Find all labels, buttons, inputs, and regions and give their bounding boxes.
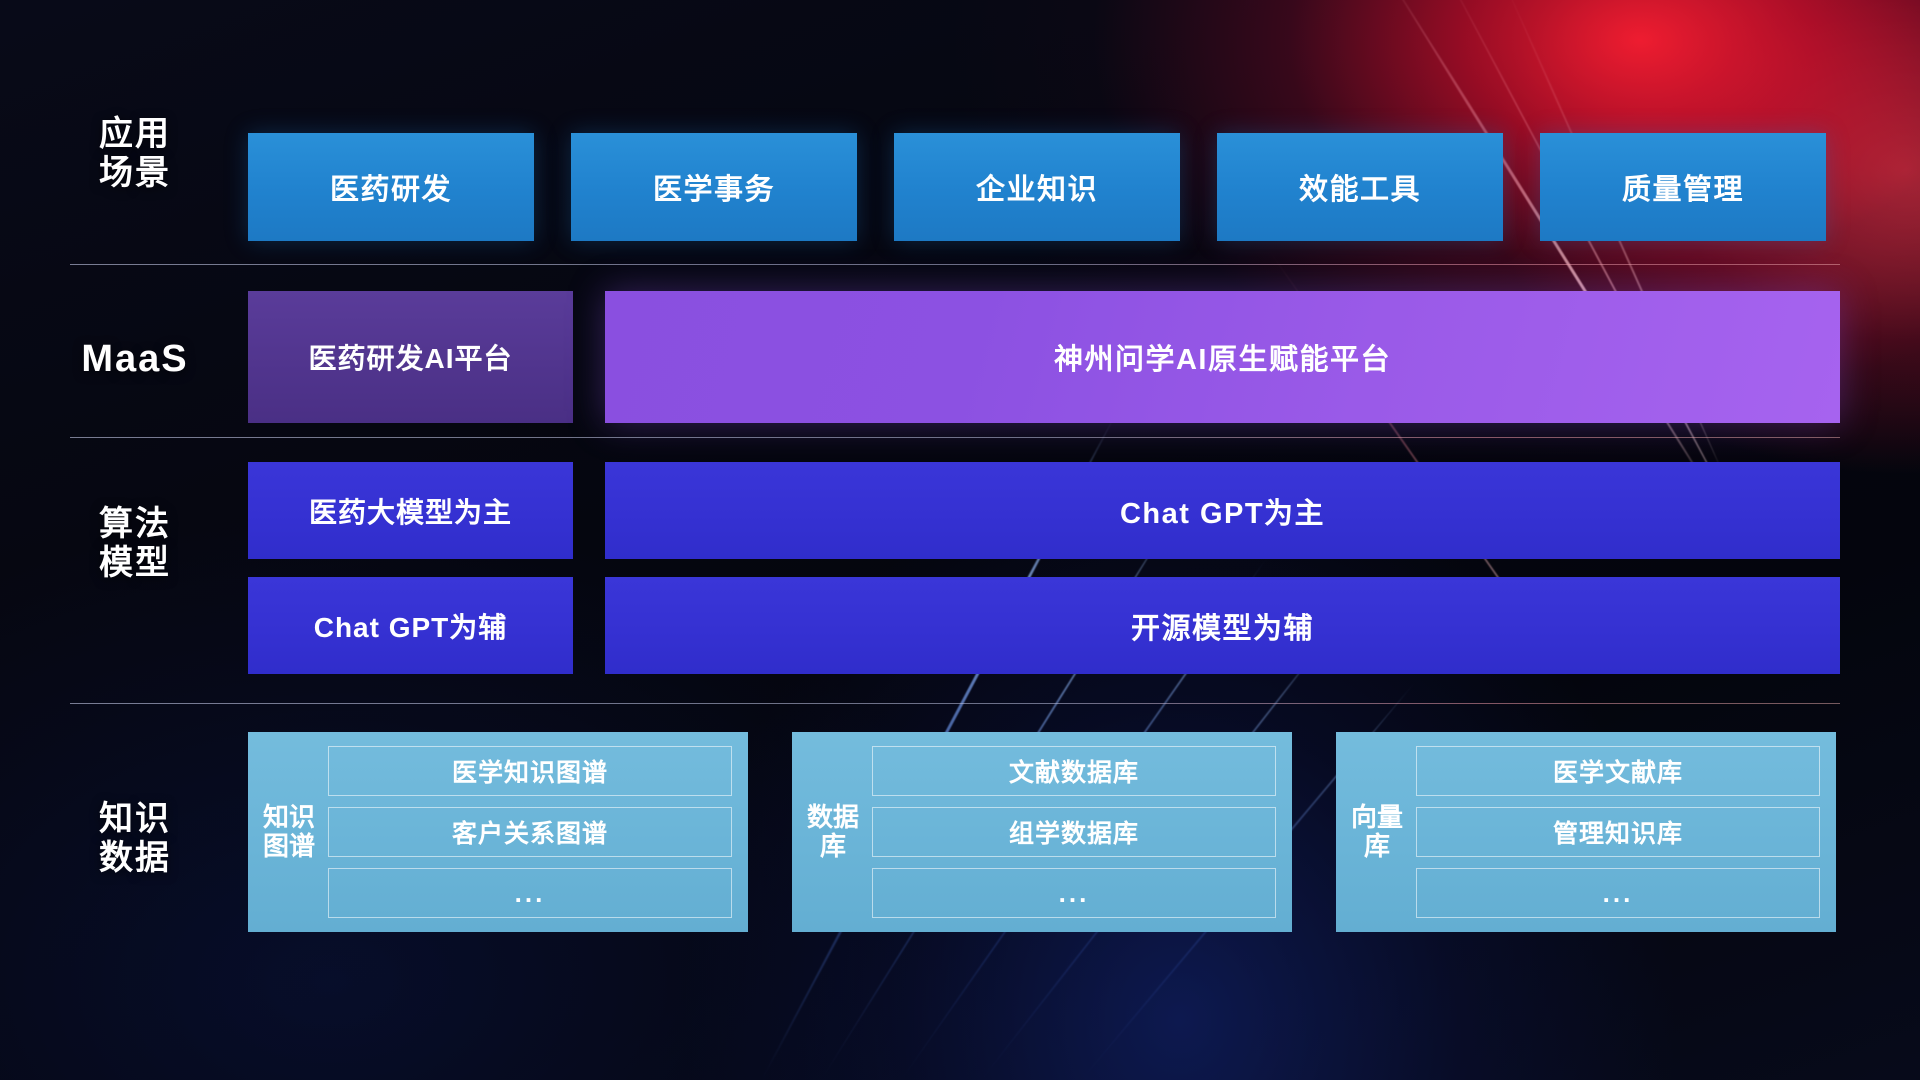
knowledge-group-database[interactable]: 数据库 文献数据库 组学数据库 ... — [792, 732, 1292, 932]
knowledge-item[interactable]: 客户关系图谱 — [328, 807, 732, 857]
row-application-scenarios: 医药研发 医学事务 企业知识 效能工具 质量管理 — [248, 133, 1826, 241]
row-label-maas: MaaS — [60, 337, 210, 381]
knowledge-item[interactable]: 组学数据库 — [872, 807, 1276, 857]
row-label-line: 知识 — [60, 800, 210, 839]
knowledge-item[interactable]: 医学文献库 — [1416, 746, 1820, 796]
row-maas: 医药研发AI平台 神州问学AI原生赋能平台 — [248, 291, 1840, 423]
row-divider — [70, 703, 1840, 704]
knowledge-item-more[interactable]: ... — [1416, 868, 1820, 918]
row-divider — [70, 264, 1840, 265]
row-algorithm-model-secondary: Chat GPT为辅 开源模型为辅 — [248, 577, 1840, 674]
knowledge-group-knowledge-graph[interactable]: 知识图谱 医学知识图谱 客户关系图谱 ... — [248, 732, 748, 932]
model-box-medical-llm-primary[interactable]: 医药大模型为主 — [248, 462, 573, 559]
app-scenario-box[interactable]: 企业知识 — [894, 133, 1180, 241]
knowledge-group-items: 文献数据库 组学数据库 ... — [872, 746, 1276, 918]
knowledge-group-items: 医学文献库 管理知识库 ... — [1416, 746, 1820, 918]
model-box-opensource-secondary[interactable]: 开源模型为辅 — [605, 577, 1840, 674]
knowledge-item[interactable]: 医学知识图谱 — [328, 746, 732, 796]
model-box-chatgpt-primary[interactable]: Chat GPT为主 — [605, 462, 1840, 559]
row-label-line: 数据 — [60, 839, 210, 878]
row-label-algorithm-model: 算法 模型 — [60, 505, 210, 584]
row-label-line: MaaS — [60, 337, 210, 381]
row-algorithm-model-primary: 医药大模型为主 Chat GPT为主 — [248, 462, 1840, 559]
knowledge-item[interactable]: 管理知识库 — [1416, 807, 1820, 857]
maas-box-medical-ai-platform[interactable]: 医药研发AI平台 — [248, 291, 573, 423]
model-box-chatgpt-secondary[interactable]: Chat GPT为辅 — [248, 577, 573, 674]
row-knowledge-data: 知识图谱 医学知识图谱 客户关系图谱 ... 数据库 文献数据库 组学数据库 .… — [248, 732, 1836, 932]
row-label-line: 算法 — [60, 505, 210, 544]
app-scenario-box[interactable]: 医学事务 — [571, 133, 857, 241]
row-label-line: 场景 — [60, 154, 210, 193]
knowledge-item[interactable]: 文献数据库 — [872, 746, 1276, 796]
row-label-line: 应用 — [60, 115, 210, 154]
architecture-diagram-canvas: 应用 场景 医药研发 医学事务 企业知识 效能工具 质量管理 MaaS 医药研发… — [0, 0, 1920, 1080]
knowledge-group-title: 数据库 — [806, 746, 860, 918]
knowledge-item-more[interactable]: ... — [328, 868, 732, 918]
knowledge-item-more[interactable]: ... — [872, 868, 1276, 918]
app-scenario-box[interactable]: 医药研发 — [248, 133, 534, 241]
row-label-line: 模型 — [60, 544, 210, 583]
knowledge-group-vector-store[interactable]: 向量库 医学文献库 管理知识库 ... — [1336, 732, 1836, 932]
app-scenario-box[interactable]: 质量管理 — [1540, 133, 1826, 241]
knowledge-group-items: 医学知识图谱 客户关系图谱 ... — [328, 746, 732, 918]
row-label-application-scenarios: 应用 场景 — [60, 115, 210, 194]
maas-box-shenzhou-wenxue-platform[interactable]: 神州问学AI原生赋能平台 — [605, 291, 1840, 423]
knowledge-group-title: 向量库 — [1350, 746, 1404, 918]
row-label-knowledge-data: 知识 数据 — [60, 800, 210, 879]
knowledge-group-title: 知识图谱 — [262, 746, 316, 918]
row-divider — [70, 437, 1840, 438]
app-scenario-box[interactable]: 效能工具 — [1217, 133, 1503, 241]
